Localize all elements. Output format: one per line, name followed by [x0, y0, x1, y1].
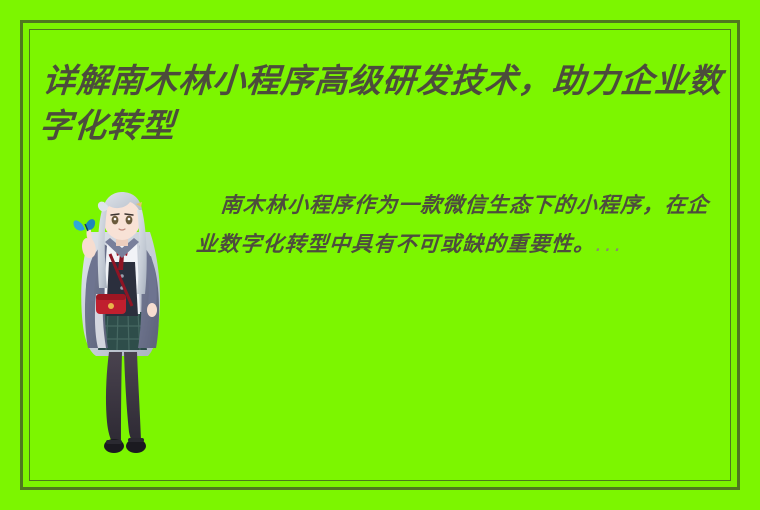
character-right-leg: [124, 352, 141, 442]
anime-girl-character-illustration: [52, 184, 188, 456]
character-left-leg: [106, 352, 122, 442]
butterfly-icon: [73, 219, 95, 231]
character-right-hand: [147, 303, 157, 317]
article-summary-ellipsis: ...: [595, 232, 626, 256]
article-summary: 南木林小程序作为一款微信生态下的小程序，在企业数字化转型中具有不可或缺的重要性。…: [195, 186, 728, 264]
article-summary-text: 南木林小程序作为一款微信生态下的小程序，在企业数字化转型中具有不可或缺的重要性。: [195, 193, 710, 256]
article-headline: 详解南木林小程序高级研发技术，助力企业数字化转型: [38, 58, 734, 148]
article-cover-card: 详解南木林小程序高级研发技术，助力企业数字化转型 南木林小程序作为一款微信生态下…: [0, 0, 760, 510]
